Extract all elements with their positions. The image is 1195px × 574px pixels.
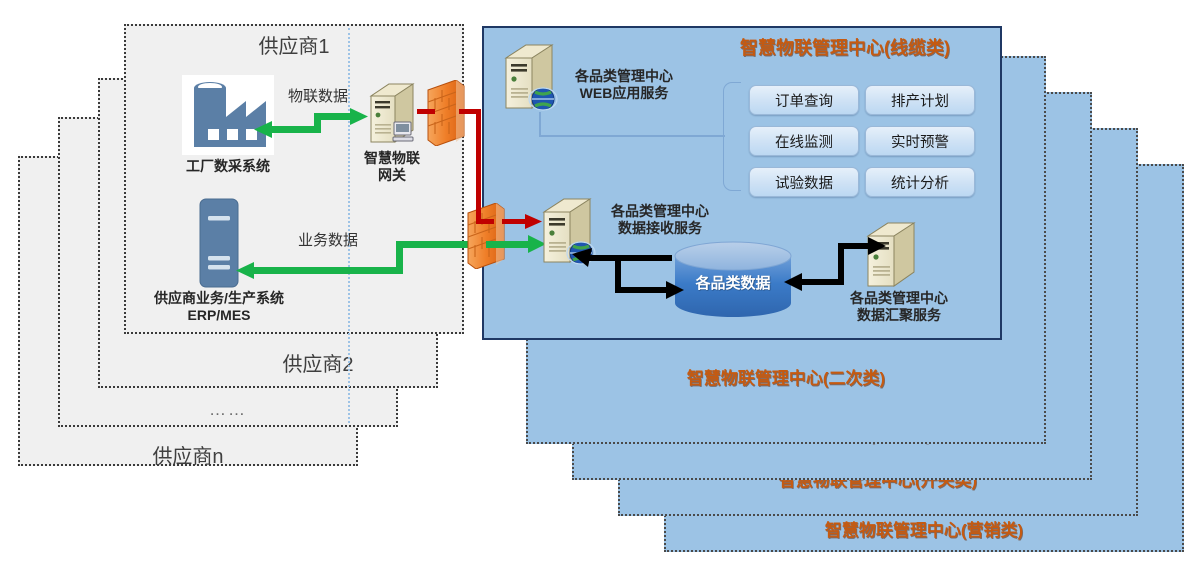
web-app-label-line1: 各品类管理中心 (575, 68, 673, 84)
center-panel-secondary-label: 智慧物联管理中心(二次类) (687, 364, 885, 389)
supplier-panel-1 (124, 24, 464, 334)
web-connector-horizontal (539, 135, 725, 137)
supplier-panel-2-label: 供应商2 (282, 348, 353, 377)
business-flow-arrow-to-erp (236, 261, 256, 281)
iot-data-flow-label: 物联数据 (288, 88, 348, 105)
agg-arrow-head-to-database (784, 272, 804, 293)
agg-arrow-head-to-server (866, 236, 886, 257)
function-button-realtime-alert[interactable]: 实时预警 (865, 126, 975, 156)
gateway-server-icon (365, 82, 421, 148)
erp-label-line1: 供应商业务/生产系统 (154, 290, 284, 306)
web-app-label-line2: WEB应用服务 (580, 85, 669, 101)
function-group-bracket (723, 82, 741, 191)
function-button-statistics[interactable]: 统计分析 (865, 167, 975, 197)
erp-label-line2: ERP/MES (187, 307, 250, 323)
gateway-label-line2: 网关 (378, 167, 406, 183)
data-aggregate-label-line1: 各品类管理中心 (850, 290, 948, 306)
supplier-panel-1-label: 供应商1 (258, 30, 329, 59)
web-app-server-icon (500, 42, 562, 116)
factory-icon (182, 75, 274, 155)
iot-flow-arrow-to-factory (254, 120, 274, 140)
function-button-test-data[interactable]: 试验数据 (749, 167, 859, 197)
gateway-label-line1: 智慧物联 (364, 150, 420, 166)
supplier-panel-ellipsis-label: …… (209, 400, 247, 420)
architecture-diagram: 供应商n …… 供应商2 供应商1 工厂数采系统 (0, 0, 1195, 574)
db-in-arrow-head (664, 280, 684, 301)
data-aggregate-label-line2: 数据汇聚服务 (857, 307, 941, 323)
function-button-order-query[interactable]: 订单查询 (749, 85, 859, 115)
supplier-panel-n-label: 供应商n (152, 440, 223, 469)
iot-flow-arrow-to-gateway (348, 107, 368, 127)
data-receive-label-line1: 各品类管理中心 (611, 203, 709, 219)
factory-label: 工厂数采系统 (186, 158, 270, 174)
erp-server-icon (199, 198, 239, 288)
supplier-zone-divider (348, 28, 350, 423)
business-flow-seg-h-bottom (254, 267, 403, 274)
agg-out-arrow-seg-h-bottom (800, 279, 844, 285)
data-aggregate-server-icon (862, 220, 924, 294)
db-in-arrow-seg-h-top (588, 255, 672, 261)
iot-flow-seg-h-bottom (272, 126, 321, 133)
red-flow-seg-into-fw2 (476, 219, 494, 224)
red-flow-seg-vertical (476, 109, 481, 224)
web-connector-vertical (539, 112, 541, 136)
function-button-online-monitor[interactable]: 在线监测 (749, 126, 859, 156)
center-panel-marketing-label: 智慧物联管理中心(营销类) (825, 516, 1023, 541)
db-out-arrow-head-to-receive-server (572, 248, 594, 269)
function-button-production-plan[interactable]: 排产计划 (865, 85, 975, 115)
database-label: 各品类数据 (695, 272, 770, 293)
red-flow-seg-gateway-to-fw1 (417, 109, 435, 114)
center-panel-cable-label: 智慧物联管理中心(线缆类) (740, 34, 950, 60)
business-data-flow-label: 业务数据 (298, 232, 358, 249)
firewall-icon-middle (466, 203, 506, 269)
data-receive-label-line2: 数据接收服务 (618, 220, 702, 236)
